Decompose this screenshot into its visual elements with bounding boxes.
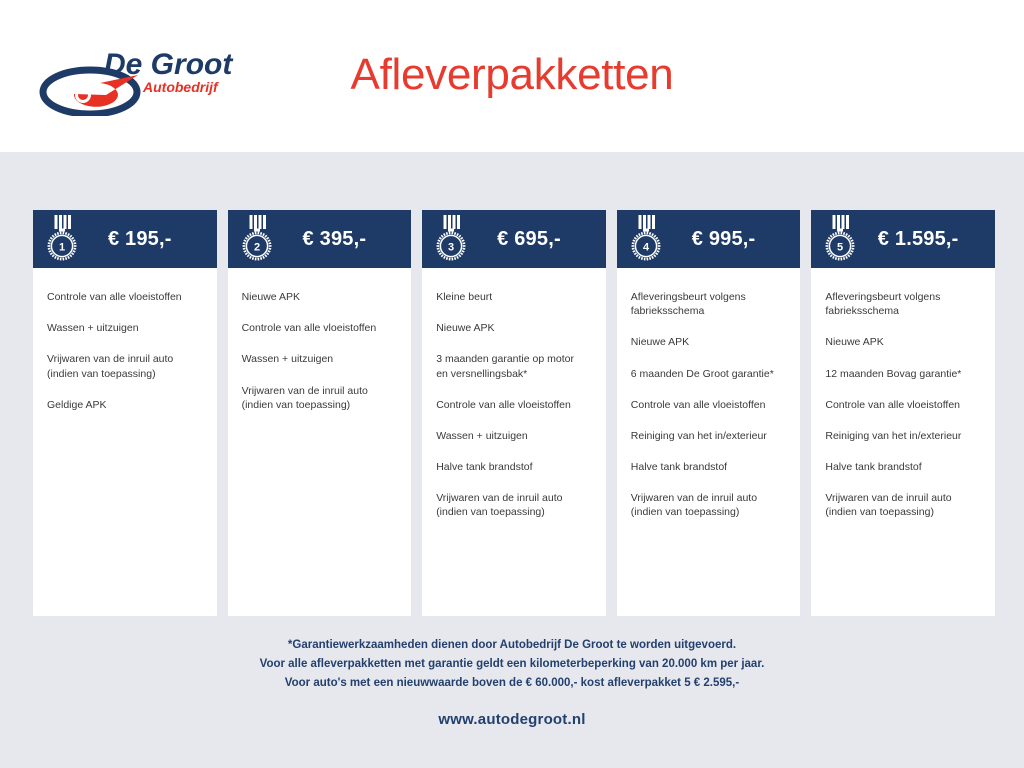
package-price: € 195,-	[81, 228, 203, 251]
package-price: € 995,-	[665, 228, 787, 251]
package-feature-item: 6 maanden De Groot garantie*	[631, 367, 787, 381]
disclaimer-line: *Garantiewerkzaamheden dienen door Autob…	[0, 636, 1024, 655]
package-feature-item: Afleveringsbeurt volgensfabrieksschema	[631, 290, 787, 318]
package-card-header: 3€ 695,-	[422, 210, 606, 268]
page-title: Afleverpakketten	[0, 50, 1024, 100]
package-feature-item: Controle van alle vloeistoffen	[631, 398, 787, 412]
package-price: € 695,-	[470, 228, 592, 251]
package-feature-item: Afleveringsbeurt volgensfabrieksschema	[825, 290, 981, 318]
package-feature-item: Nieuwe APK	[825, 335, 981, 349]
package-card[interactable]: 1€ 195,-Controle van alle vloeistoffenWa…	[33, 210, 217, 616]
package-feature-item: Nieuwe APK	[242, 290, 398, 304]
package-feature-item: Reiniging van het in/exterieur	[631, 429, 787, 443]
package-feature-list: Afleveringsbeurt volgensfabrieksschemaNi…	[811, 268, 995, 616]
medal-number: 4	[643, 241, 650, 253]
disclaimer-block: *Garantiewerkzaamheden dienen door Autob…	[0, 636, 1024, 693]
package-feature-item: Vrijwaren van de inruil auto(indien van …	[47, 352, 203, 380]
package-price: € 395,-	[276, 228, 398, 251]
package-feature-item: Nieuwe APK	[631, 335, 787, 349]
package-card-header: 5€ 1.595,-	[811, 210, 995, 268]
package-card[interactable]: 5€ 1.595,-Afleveringsbeurt volgensfabrie…	[811, 210, 995, 616]
package-feature-item: Wassen + uitzuigen	[436, 429, 592, 443]
medal-icon: 5	[821, 214, 859, 264]
package-feature-item: Nieuwe APK	[436, 321, 592, 335]
medal-icon: 3	[432, 214, 470, 264]
package-feature-item: Geldige APK	[47, 398, 203, 412]
package-feature-list: Kleine beurtNieuwe APK3 maanden garantie…	[422, 268, 606, 616]
package-feature-item: Halve tank brandstof	[825, 460, 981, 474]
package-feature-item: Wassen + uitzuigen	[242, 352, 398, 366]
package-feature-list: Nieuwe APKControle van alle vloeistoffen…	[228, 268, 412, 616]
package-feature-item: 3 maanden garantie op motoren versnellin…	[436, 352, 592, 380]
medal-icon: 4	[627, 214, 665, 264]
package-feature-item: Vrijwaren van de inruil auto(indien van …	[631, 491, 787, 519]
package-feature-item: Vrijwaren van de inruil auto(indien van …	[436, 491, 592, 519]
package-feature-item: Kleine beurt	[436, 290, 592, 304]
package-card-list: 1€ 195,-Controle van alle vloeistoffenWa…	[33, 210, 995, 616]
package-feature-item: Vrijwaren van de inruil auto(indien van …	[825, 491, 981, 519]
disclaimer-line: Voor alle afleverpakketten met garantie …	[0, 655, 1024, 674]
package-feature-item: Controle van alle vloeistoffen	[47, 290, 203, 304]
medal-number: 3	[448, 241, 454, 253]
medal-icon: 2	[238, 214, 276, 264]
disclaimer-line: Voor auto's met een nieuwwaarde boven de…	[0, 674, 1024, 693]
package-feature-item: Vrijwaren van de inruil auto(indien van …	[242, 384, 398, 412]
page-footer: *Garantiewerkzaamheden dienen door Autob…	[0, 636, 1024, 728]
package-feature-item: 12 maanden Bovag garantie*	[825, 367, 981, 381]
medal-number: 2	[254, 241, 260, 253]
medal-icon: 1	[43, 214, 81, 264]
package-feature-item: Wassen + uitzuigen	[47, 321, 203, 335]
website-link[interactable]: www.autodegroot.nl	[0, 711, 1024, 728]
package-card-header: 1€ 195,-	[33, 210, 217, 268]
package-feature-list: Afleveringsbeurt volgensfabrieksschemaNi…	[617, 268, 801, 616]
page-header: De Groot Autobedrijf Afleverpakketten	[0, 0, 1024, 152]
package-card-header: 4€ 995,-	[617, 210, 801, 268]
package-card-header: 2€ 395,-	[228, 210, 412, 268]
package-feature-item: Controle van alle vloeistoffen	[436, 398, 592, 412]
package-feature-list: Controle van alle vloeistoffenWassen + u…	[33, 268, 217, 616]
package-card[interactable]: 2€ 395,-Nieuwe APKControle van alle vloe…	[228, 210, 412, 616]
package-feature-item: Halve tank brandstof	[631, 460, 787, 474]
package-price: € 1.595,-	[859, 228, 981, 251]
package-feature-item: Reiniging van het in/exterieur	[825, 429, 981, 443]
package-feature-item: Halve tank brandstof	[436, 460, 592, 474]
medal-number: 5	[837, 241, 843, 253]
package-card[interactable]: 3€ 695,-Kleine beurtNieuwe APK3 maanden …	[422, 210, 606, 616]
package-card[interactable]: 4€ 995,-Afleveringsbeurt volgensfabrieks…	[617, 210, 801, 616]
package-feature-item: Controle van alle vloeistoffen	[242, 321, 398, 335]
medal-number: 1	[59, 241, 65, 253]
package-feature-item: Controle van alle vloeistoffen	[825, 398, 981, 412]
